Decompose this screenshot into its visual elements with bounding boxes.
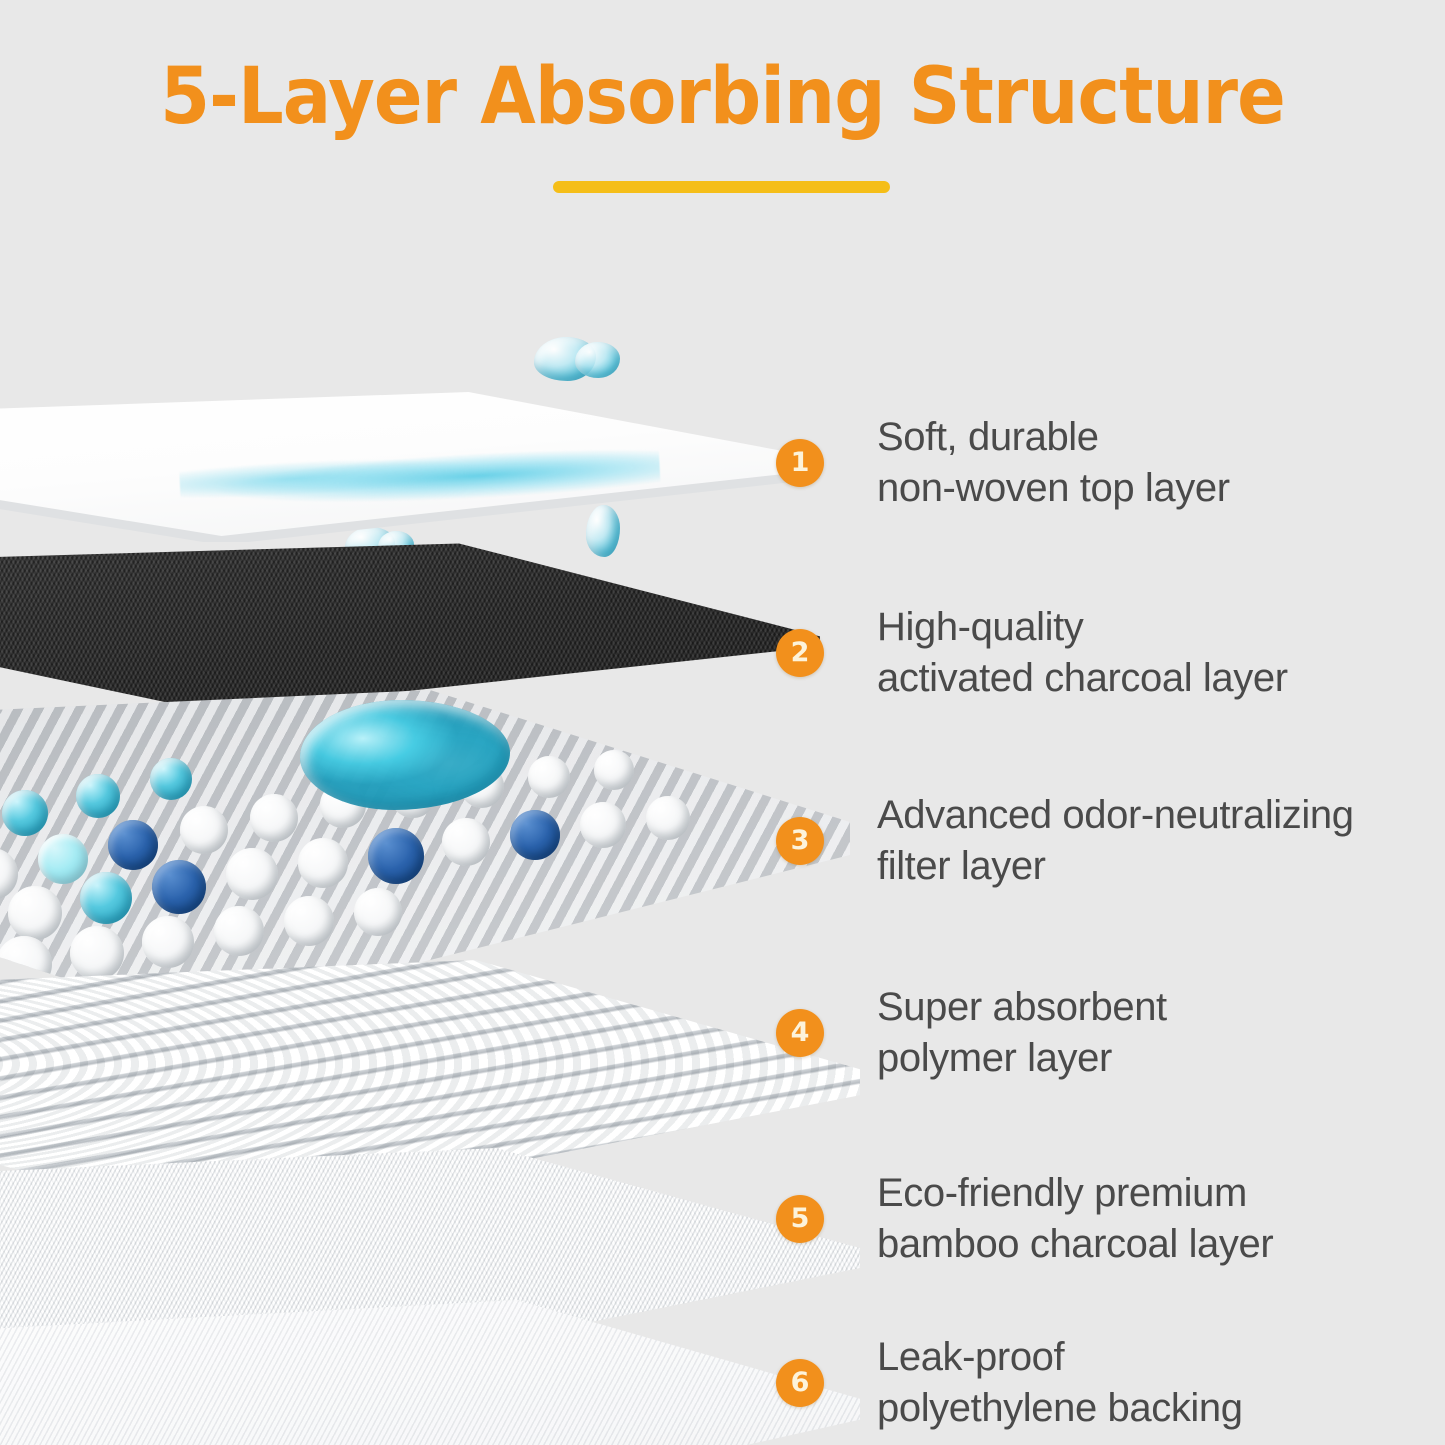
water-droplet-icon: [586, 505, 620, 557]
callout-3: 3 Advanced odor-neutralizing filter laye…: [776, 790, 1354, 892]
callout-label-4: Super absorbent polymer layer: [877, 982, 1167, 1084]
callout-2: 2 High-quality activated charcoal layer: [776, 602, 1288, 704]
callout-5: 5 Eco-friendly premium bamboo charcoal l…: [776, 1168, 1273, 1270]
product-layer-illustration: [0, 0, 870, 1445]
callout-badge-4: 4: [776, 1009, 824, 1057]
callout-label-5: Eco-friendly premium bamboo charcoal lay…: [877, 1168, 1273, 1270]
callout-badge-2: 2: [776, 629, 824, 677]
callout-label-2: High-quality activated charcoal layer: [877, 602, 1288, 704]
callout-badge-6: 6: [776, 1359, 824, 1407]
callout-badge-5: 5: [776, 1195, 824, 1243]
layer-2-charcoal-sheet: [0, 540, 820, 712]
infographic-page: 5-Layer Absorbing Structure: [0, 0, 1445, 1445]
callout-6: 6 Leak-proof polyethylene backing: [776, 1332, 1243, 1434]
callout-badge-3: 3: [776, 817, 824, 865]
layer-6-polyethylene-backing-sheet: [0, 1300, 860, 1445]
callout-badge-1: 1: [776, 439, 824, 487]
water-droplet-icon: [534, 337, 596, 381]
callout-4: 4 Super absorbent polymer layer: [776, 982, 1167, 1084]
callout-1: 1 Soft, durable non-woven top layer: [776, 412, 1230, 514]
callout-label-1: Soft, durable non-woven top layer: [877, 412, 1230, 514]
callout-label-3: Advanced odor-neutralizing filter layer: [877, 790, 1354, 892]
callout-label-6: Leak-proof polyethylene backing: [877, 1332, 1243, 1434]
